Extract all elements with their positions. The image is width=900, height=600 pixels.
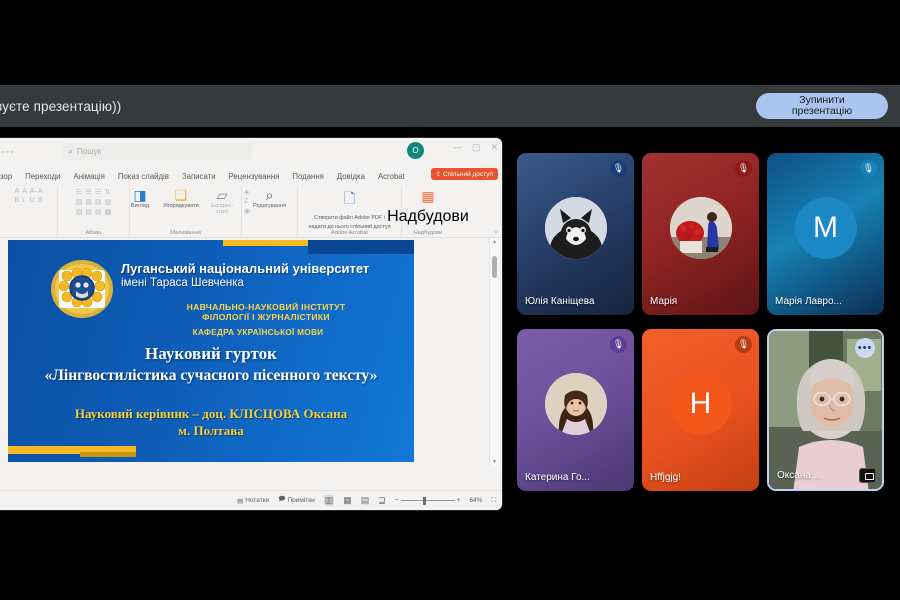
align-text-icon[interactable]: ▤: [95, 208, 102, 216]
fit-to-window-icon[interactable]: ⛶: [491, 497, 496, 505]
tab-review-partial[interactable]: зор: [0, 172, 12, 181]
participant-tile[interactable]: 🎙 Катерина Го...: [517, 329, 634, 491]
avatar-initial: H: [690, 387, 712, 421]
club-subtitle: «Лінгвостилістика сучасного пісенного те…: [14, 366, 408, 385]
supervisor-line: Науковий керівник – доц. КЛІСЦОВА Оксана: [14, 406, 408, 422]
avatar: [545, 373, 607, 435]
mic-muted-icon: 🎙: [735, 336, 752, 353]
dog-photo-avatar-icon: [545, 197, 607, 259]
slide-vertical-scrollbar[interactable]: ▲ ▼: [489, 238, 498, 466]
participant-name: Марія Лавро...: [775, 296, 842, 307]
meeting-top-bar: зуєте презентацію)) Зупинити презентацію: [0, 85, 900, 127]
align-left-icon[interactable]: ▤: [76, 198, 83, 206]
smartart-icon[interactable]: ▦: [105, 208, 112, 216]
font-color-icon[interactable]: A: [38, 188, 43, 195]
ribbon-group-label-font: [28, 230, 30, 236]
ribbon-group-addins: ▦ Надбудови Надбудови: [402, 186, 454, 237]
close-icon[interactable]: ✕: [490, 142, 498, 153]
participant-name: Оксана ...: [777, 470, 822, 481]
quick-styles-label-2: стилі: [215, 209, 228, 215]
reading-view-button[interactable]: ▤: [361, 495, 370, 506]
scrollbar-thumb[interactable]: [492, 256, 497, 278]
university-name-line2: імені Тараса Шевченка: [121, 276, 411, 290]
text-direction-icon[interactable]: ⇅: [105, 188, 112, 196]
ribbon-group-font: A A A̶ A B I U S: [0, 186, 58, 237]
woman-with-flowers-photo-avatar-icon: [670, 197, 732, 259]
mic-muted-icon: 🎙: [610, 336, 627, 353]
participant-grid: 🎙 Юлія Каніщева 🎙: [517, 153, 892, 493]
ribbon-group-label-paragraph: Абзац: [86, 230, 102, 236]
participant-name: Катерина Го...: [525, 472, 590, 483]
collapse-ribbon-icon[interactable]: ⌄: [493, 227, 499, 235]
slide-top-dark-bar: [308, 240, 414, 254]
magnifier-icon: ⌕: [266, 188, 274, 203]
notes-icon: ▤: [237, 497, 243, 505]
italic-icon[interactable]: I: [22, 197, 27, 204]
university-name-line1: Луганський національний університет: [121, 261, 369, 276]
font-buttons[interactable]: A A A̶ A B I U S: [14, 188, 42, 204]
indent-decrease-icon[interactable]: ☰: [95, 188, 102, 196]
more-options-icon[interactable]: •••: [855, 338, 875, 358]
mic-muted-icon: 🎙: [860, 160, 877, 177]
comments-label: Примітки: [287, 497, 314, 504]
ribbon-tabs: зор Переходи Анімація Показ слайдів Запи…: [0, 166, 502, 186]
mic-muted-icon: 🎙: [610, 160, 627, 177]
institute-name: НАВЧАЛЬНО-НАУКОВИЙ ІНСТИТУТ ФІЛОЛОГІЇ І …: [121, 302, 411, 322]
avatar-initial: M: [813, 211, 838, 245]
tab-help[interactable]: Довідка: [337, 172, 365, 181]
participant-name: Hffjgjg!: [650, 472, 681, 483]
club-title: Науковий гурток: [18, 344, 404, 364]
tab-view[interactable]: Подання: [292, 172, 324, 181]
zoom-track[interactable]: [401, 500, 455, 501]
slide-content[interactable]: Луганський національний університет імен…: [8, 240, 414, 462]
avatar[interactable]: О: [407, 142, 424, 159]
slide-canvas-area: Луганський національний університет імен…: [0, 238, 502, 473]
comment-icon: 🗩: [278, 495, 285, 506]
editing-button[interactable]: ⌕ Редагування: [251, 188, 289, 209]
create-pdf-label-1: Створити файл Adobe PDF і: [314, 215, 385, 221]
editing-controls[interactable]: ⌕ Редагування: [251, 188, 289, 230]
align-right-icon[interactable]: ▤: [76, 208, 83, 216]
normal-view-button[interactable]: ▥: [324, 495, 335, 506]
tab-animations[interactable]: Анімація: [74, 172, 105, 181]
tab-transitions[interactable]: Переходи: [25, 172, 60, 181]
participant-name: Марія: [650, 296, 677, 307]
share-label: Спільний доступ: [443, 171, 493, 178]
ribbon-group-label-drawing: Малювання: [170, 230, 201, 236]
scroll-up-arrow-icon[interactable]: ▲: [492, 239, 497, 245]
restore-icon[interactable]: ▢: [472, 142, 481, 153]
bold-icon[interactable]: B: [14, 197, 19, 204]
department-name: КАФЕДРА УКРАЇНСЬКОЇ МОВИ: [108, 328, 408, 337]
institute-line1: НАВЧАЛЬНО-НАУКОВИЙ ІНСТИТУТ: [121, 302, 411, 312]
zoom-knob[interactable]: [423, 497, 426, 505]
slide-bottom-gold-bar-shadow: [80, 452, 136, 457]
ribbon: A A A̶ A B I U S ☰ ☰: [0, 186, 502, 238]
justify-icon[interactable]: ▤: [85, 208, 92, 216]
font-controls[interactable]: A A A̶ A B I U S: [14, 188, 42, 230]
quick-access-toolbar[interactable]: ▫ ▫ ▫: [0, 149, 13, 156]
zoom-level: 64%: [469, 497, 482, 504]
university-name: Луганський національний університет імен…: [121, 262, 411, 290]
adobe-pdf-icon: 🗋: [344, 188, 355, 212]
window-controls: — ▢ ✕: [453, 142, 498, 153]
share-icon: ⇪: [436, 170, 441, 178]
arrange-icon: ❑: [175, 188, 188, 203]
numbering-icon[interactable]: ☰: [85, 188, 92, 196]
arrange-label: Упорядкувати: [163, 203, 199, 209]
avatar: M: [795, 197, 857, 259]
shapes-icon: ◨: [133, 188, 146, 203]
participant-tile[interactable]: 🎙 M Марія Лавро...: [767, 153, 884, 315]
acrobat-controls[interactable]: 🗋 Створити файл Adobe PDF і надати до нь…: [309, 188, 391, 230]
drawing-controls[interactable]: ◨ Вигляд ❑ Упорядкувати ▱ Експрес- стилі…: [121, 188, 250, 230]
quick-styles-icon: ▱: [217, 188, 228, 203]
participant-tile-self-video[interactable]: ••• Оксана ...: [767, 329, 884, 491]
tab-slideshow[interactable]: Показ слайдів: [118, 172, 169, 181]
align-center-icon[interactable]: ▤: [85, 198, 92, 206]
paragraph-buttons[interactable]: ☰ ☰ ☰ ⇅ ▤ ▤ ▤ ▥ ▤ ▤ ▤ ▦: [76, 188, 112, 216]
participant-tile[interactable]: 🎙 H Hffjgjg!: [642, 329, 759, 491]
arrange-button[interactable]: ❑ Упорядкувати: [162, 188, 200, 209]
ribbon-group-drawing: ◨ Вигляд ❑ Упорядкувати ▱ Експрес- стилі…: [130, 186, 242, 237]
participant-tile[interactable]: 🎙 Марія: [642, 153, 759, 315]
underline-icon[interactable]: U: [30, 197, 35, 204]
addins-controls[interactable]: ▦ Надбудови: [387, 188, 469, 230]
young-woman-photo-avatar-icon: [545, 373, 607, 435]
meeting-screen: зуєте презентацію)) Зупинити презентацію…: [0, 0, 900, 600]
ribbon-group-label-addins: Надбудови: [414, 230, 443, 236]
stop-presentation-label-line2: презентацію: [792, 106, 852, 118]
line-spacing-icon[interactable]: ▤: [95, 198, 102, 206]
search-placeholder: Пошук: [77, 147, 101, 156]
font-size-grow-icon[interactable]: A: [14, 188, 19, 195]
shadow-icon[interactable]: S: [38, 197, 43, 204]
notes-button[interactable]: ▤ Нотатки: [237, 497, 269, 505]
zoom-slider[interactable]: − +: [395, 497, 461, 504]
columns-icon[interactable]: ▥: [105, 198, 112, 206]
presentation-status-text: зуєте презентацію)): [0, 99, 121, 114]
search-box[interactable]: ⌕ Пошук: [62, 143, 252, 160]
minimize-icon[interactable]: —: [453, 142, 462, 153]
picture-in-picture-icon[interactable]: [859, 468, 876, 483]
quick-styles-button: ▱ Експрес- стилі: [203, 188, 241, 215]
shapes-label: Вигляд: [131, 203, 149, 209]
ribbon-group-paragraph: ☰ ☰ ☰ ⇅ ▤ ▤ ▤ ▥ ▤ ▤ ▤ ▦ Абзац: [58, 186, 130, 237]
ribbon-group-label-editing: [269, 230, 271, 236]
shapes-button[interactable]: ◨ Вигляд: [121, 188, 159, 209]
notes-label: Нотатки: [245, 497, 269, 504]
zoom-in-icon[interactable]: +: [457, 497, 461, 504]
university-emblem-icon: [48, 258, 116, 320]
editing-label: Редагування: [253, 203, 286, 209]
powerpoint-window: ▫ ▫ ▫ ⌕ Пошук О — ▢ ✕ зор Переходи Аніма…: [0, 138, 502, 510]
tab-review[interactable]: Рецензування: [229, 172, 280, 181]
slide-top-gold-bar: [223, 240, 308, 246]
share-button[interactable]: ⇪ Спільний доступ: [431, 168, 498, 180]
zoom-out-icon[interactable]: −: [395, 497, 399, 504]
avatar: [670, 197, 732, 259]
avatar: [545, 197, 607, 259]
institute-line2: ФІЛОЛОГІЇ І ЖУРНАЛІСТИКИ: [121, 312, 411, 322]
paragraph-controls[interactable]: ☰ ☰ ☰ ⇅ ▤ ▤ ▤ ▥ ▤ ▤ ▤ ▦: [76, 188, 112, 230]
powerpoint-status-bar: ▤ Нотатки 🗩 Примітки ▥ ▦ ▤ ⊒ − + 64% ⛶: [0, 490, 502, 510]
slideshow-view-button[interactable]: ⊒: [378, 495, 386, 506]
mic-muted-icon: 🎙: [735, 160, 752, 177]
bullets-icon[interactable]: ☰: [76, 188, 83, 196]
font-size-shrink-icon[interactable]: A: [22, 188, 27, 195]
ribbon-group-editing: ⌕ Редагування: [242, 186, 298, 237]
stop-presentation-button[interactable]: Зупинити презентацію: [756, 93, 888, 119]
avatar: H: [670, 373, 732, 435]
participant-tile[interactable]: 🎙 Юлія Каніщева: [517, 153, 634, 315]
scroll-down-arrow-icon[interactable]: ▼: [492, 459, 497, 465]
addins-label: Надбудови: [387, 208, 469, 226]
participant-name: Юлія Каніщева: [525, 296, 594, 307]
clear-format-icon[interactable]: A̶: [30, 188, 35, 195]
search-icon: ⌕: [68, 146, 73, 157]
comments-button[interactable]: 🗩 Примітки: [278, 495, 315, 506]
ribbon-group-label-acrobat: Adobe Acrobat: [331, 230, 368, 236]
city-line: м. Полтава: [14, 423, 408, 439]
slide-sorter-view-button[interactable]: ▦: [343, 495, 352, 506]
powerpoint-title-bar: ▫ ▫ ▫ ⌕ Пошук О — ▢ ✕: [0, 138, 502, 166]
addins-icon: ▦: [421, 188, 434, 205]
tab-acrobat[interactable]: Acrobat: [378, 172, 405, 181]
tab-record[interactable]: Записати: [182, 172, 216, 181]
